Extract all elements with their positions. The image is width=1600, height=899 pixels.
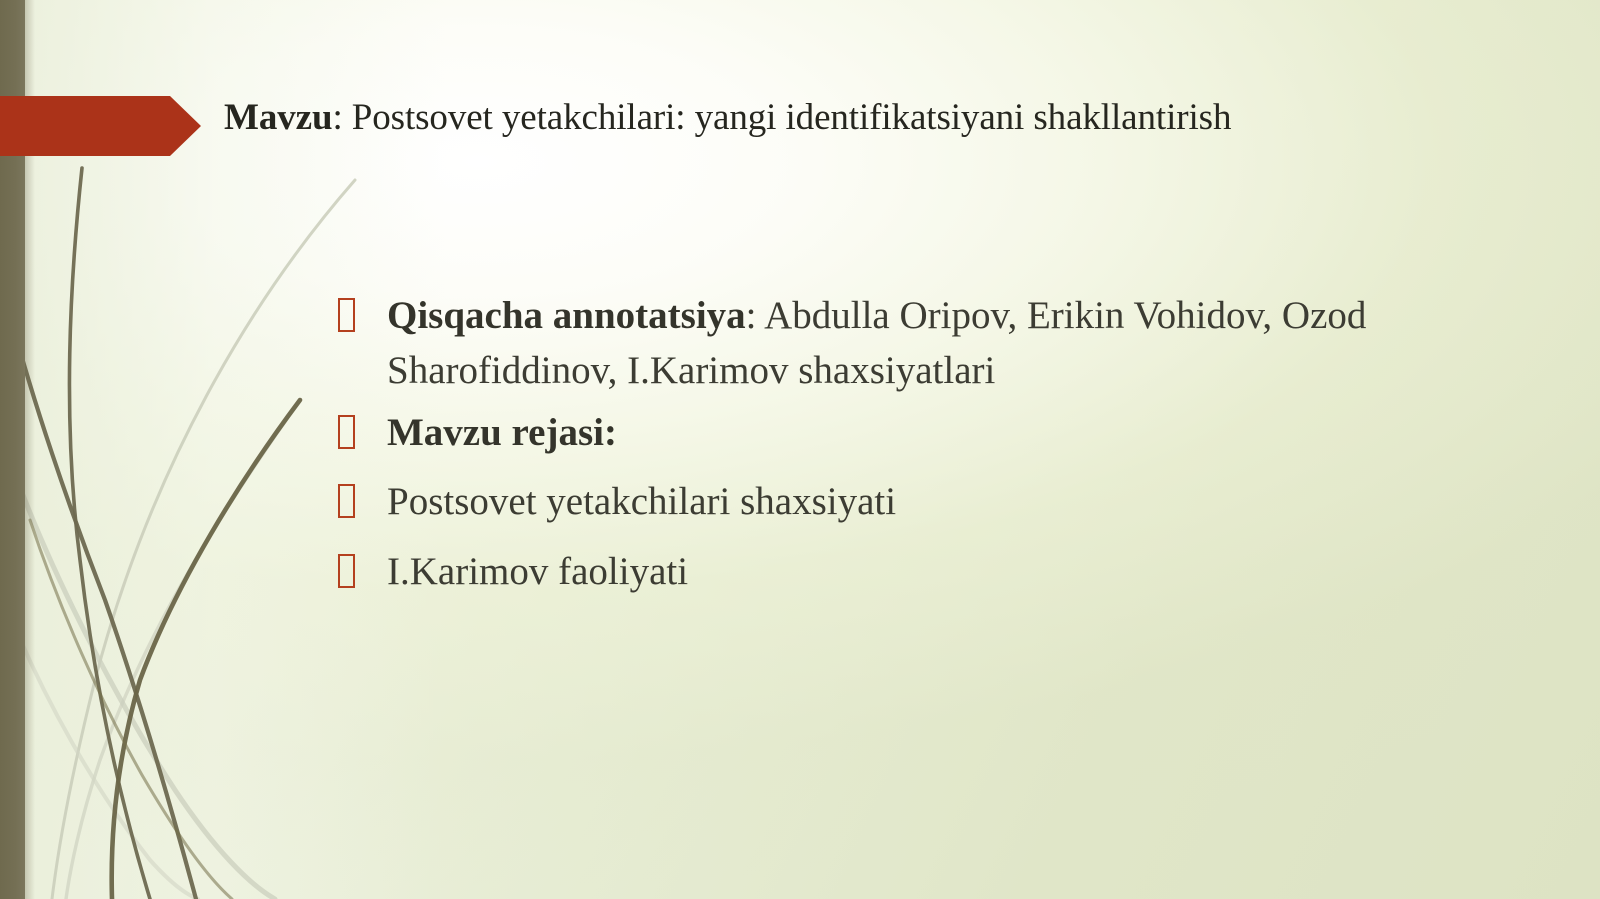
list-item: Postsovet yetakchilari shaxsiyati: [338, 474, 1398, 529]
page-title: Mavzu: Postsovet yetakchilari: yangi ide…: [224, 96, 1554, 140]
bullet-box-icon: [338, 298, 355, 332]
bullet-rest: Postsovet yetakchilari shaxsiyati: [387, 480, 896, 523]
bullet-box-icon: [338, 415, 355, 449]
title-arrow-banner: [0, 96, 201, 156]
list-item: Qisqacha annotatsiya: Abdulla Oripov, Er…: [338, 288, 1398, 399]
list-item: I.Karimov faoliyati: [338, 544, 1398, 599]
bullet-box-icon: [338, 484, 355, 518]
bullet-text: Postsovet yetakchilari shaxsiyati: [387, 474, 1398, 529]
bullet-lead: Qisqacha annotatsiya: [387, 294, 746, 337]
title-lead: Mavzu: [224, 97, 332, 138]
list-item: Mavzu rejasi:: [338, 405, 1398, 460]
bullet-list: Qisqacha annotatsiya: Abdulla Oripov, Er…: [338, 288, 1398, 599]
bullet-rest: I.Karimov faoliyati: [387, 550, 688, 593]
bullet-box-icon: [338, 554, 355, 588]
bullet-lead: Mavzu rejasi:: [387, 411, 617, 454]
slide-canvas: Mavzu: Postsovet yetakchilari: yangi ide…: [0, 0, 1600, 899]
bullet-text: Mavzu rejasi:: [387, 405, 1398, 460]
bullet-text: I.Karimov faoliyati: [387, 544, 1398, 599]
bullet-text: Qisqacha annotatsiya: Abdulla Oripov, Er…: [387, 288, 1387, 399]
title-rest: : Postsovet yetakchilari: yangi identifi…: [332, 97, 1231, 138]
